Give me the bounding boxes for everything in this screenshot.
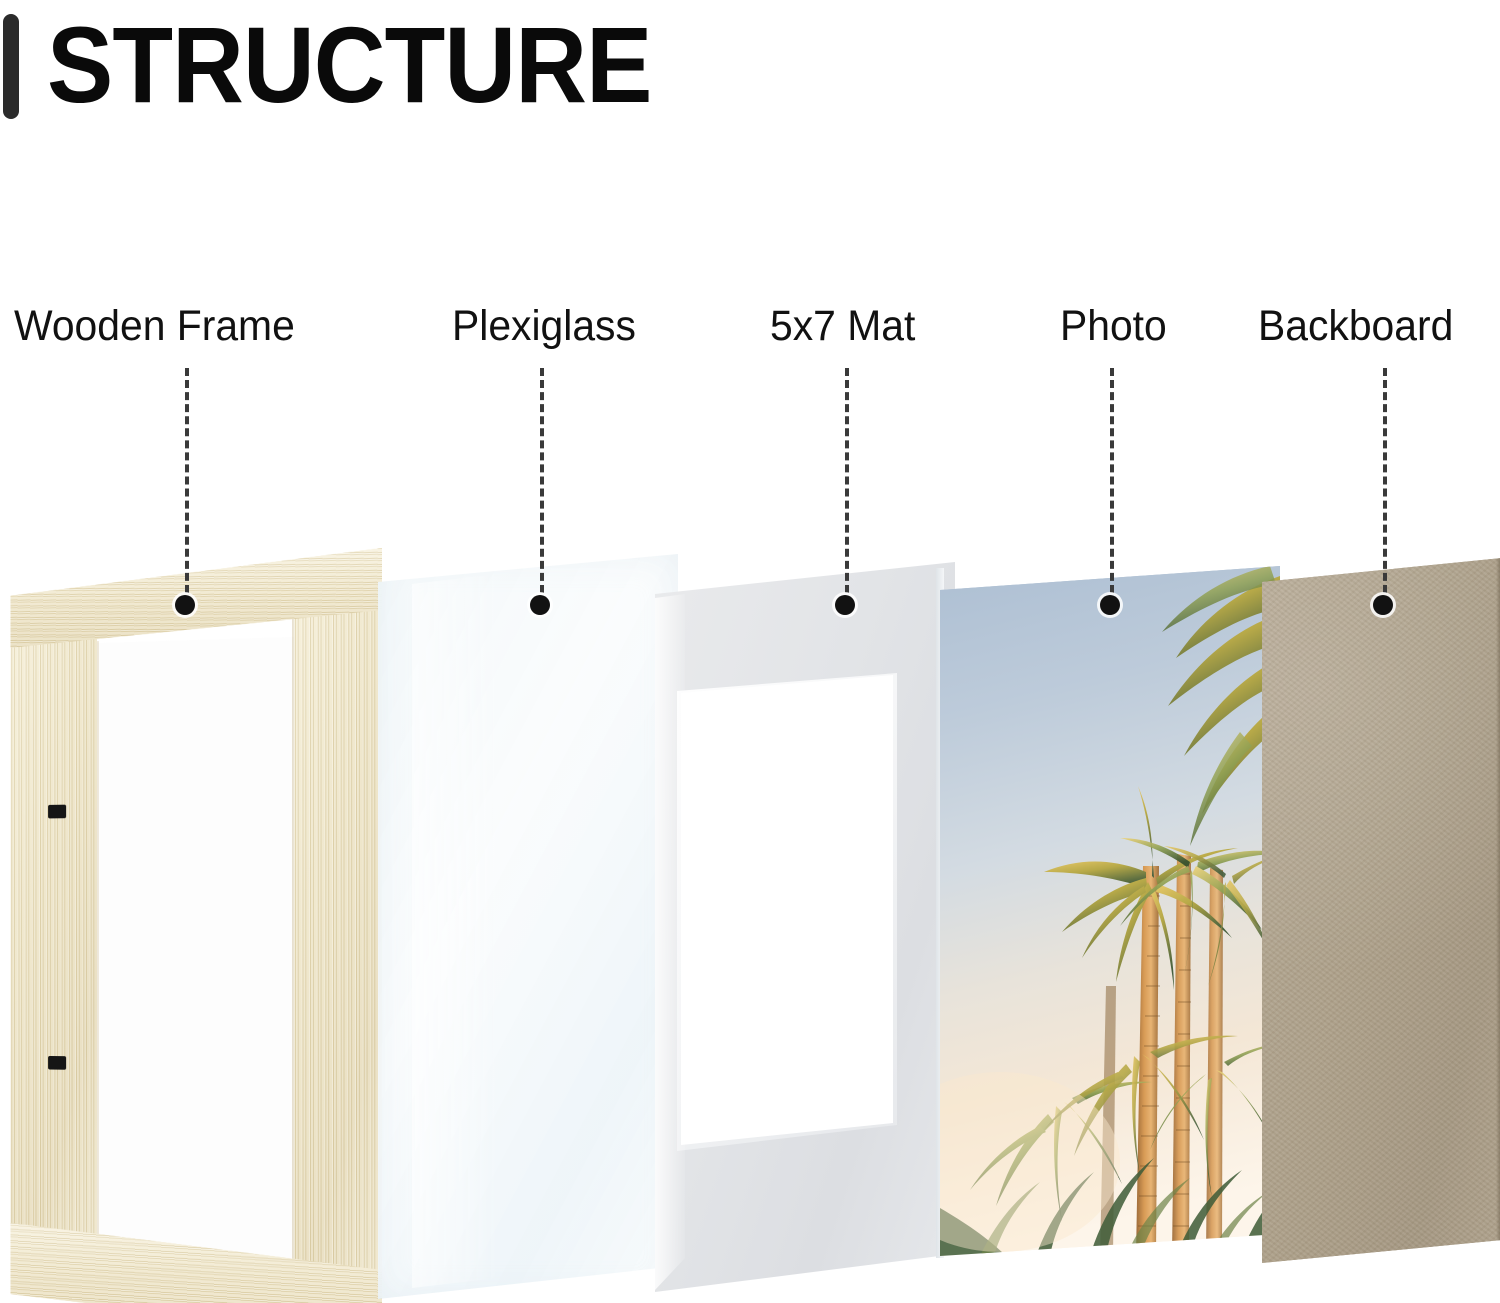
- label-photo: Photo: [1060, 300, 1167, 352]
- leader-line-photo: [1110, 368, 1114, 605]
- leader-dot-backboard: [1373, 595, 1393, 615]
- backboard-right-edge: [1496, 558, 1500, 1263]
- layer-backboard: [1262, 558, 1500, 1263]
- leader-dot-wooden-frame: [175, 595, 195, 615]
- label-backboard: Backboard: [1258, 300, 1453, 352]
- mat-window-opening: [681, 675, 893, 1145]
- frame-backing-clip-bottom: [48, 1056, 66, 1070]
- structure-diagram-page: STRUCTURE: [0, 0, 1500, 1303]
- exploded-view-stage: [0, 0, 1500, 1303]
- label-plexiglass: Plexiglass: [452, 300, 636, 352]
- leader-line-plexiglass: [540, 368, 544, 605]
- layer-photo: [940, 566, 1280, 1256]
- mat-left-highlight: [655, 568, 685, 1290]
- frame-rail-left: [10, 614, 97, 1284]
- leader-line-mat: [845, 368, 849, 605]
- leader-line-wooden-frame: [185, 368, 189, 605]
- label-wooden-frame: Wooden Frame: [14, 300, 295, 352]
- leader-dot-plexiglass: [530, 595, 550, 615]
- frame-opening: [97, 637, 294, 1277]
- leader-dot-photo: [1100, 595, 1120, 615]
- leader-dot-mat: [835, 595, 855, 615]
- frame-backing-clip-top: [48, 805, 66, 819]
- leader-line-backboard: [1383, 368, 1387, 605]
- palm-tree-photo-art: [940, 566, 1280, 1256]
- layer-wooden-frame: [10, 548, 382, 1303]
- plexiglass-sheen: [412, 560, 498, 1288]
- frame-rail-right: [294, 568, 382, 1303]
- label-mat: 5x7 Mat: [770, 300, 915, 352]
